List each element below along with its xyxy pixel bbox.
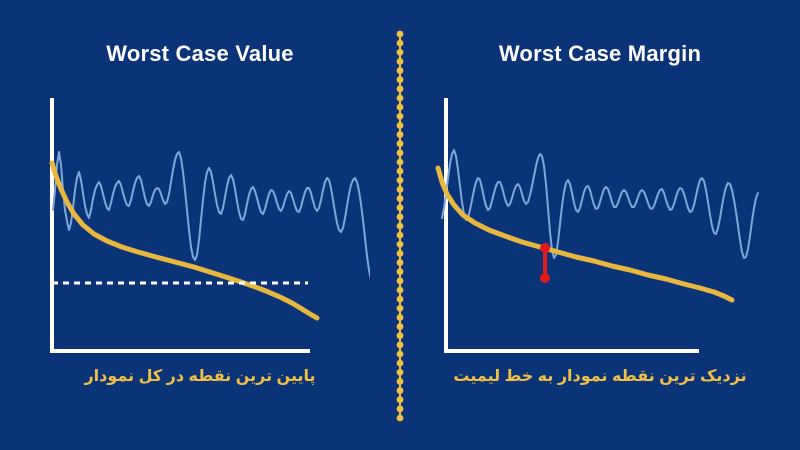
panel-title-worst-case-margin: Worst Case Margin [400, 40, 800, 68]
chart-axes-left [52, 100, 308, 351]
signal-trace-right [442, 150, 758, 258]
panel-title-worst-case-value: Worst Case Value [0, 40, 400, 68]
margin-marker [540, 243, 550, 283]
panel-worst-case-value: Worst Case Value پایین ترین نقطه در کل ن… [0, 0, 400, 450]
panel-worst-case-margin: Worst Case Margin نزدیک ترین نقطه نمودار… [400, 0, 800, 450]
chart-worst-case-margin [430, 90, 770, 365]
margin-marker-dot-top [540, 243, 550, 253]
chart-worst-case-value [30, 90, 370, 365]
slide-canvas: Worst Case Value پایین ترین نقطه در کل ن… [0, 0, 800, 450]
signal-trace-left [53, 152, 370, 282]
margin-marker-dot-bottom [540, 273, 550, 283]
panel-caption-worst-case-margin: نزدیک ترین نقطه نمودار به خط لیمیت [400, 366, 800, 388]
panel-caption-worst-case-value: پایین ترین نقطه در کل نمودار [0, 366, 400, 388]
